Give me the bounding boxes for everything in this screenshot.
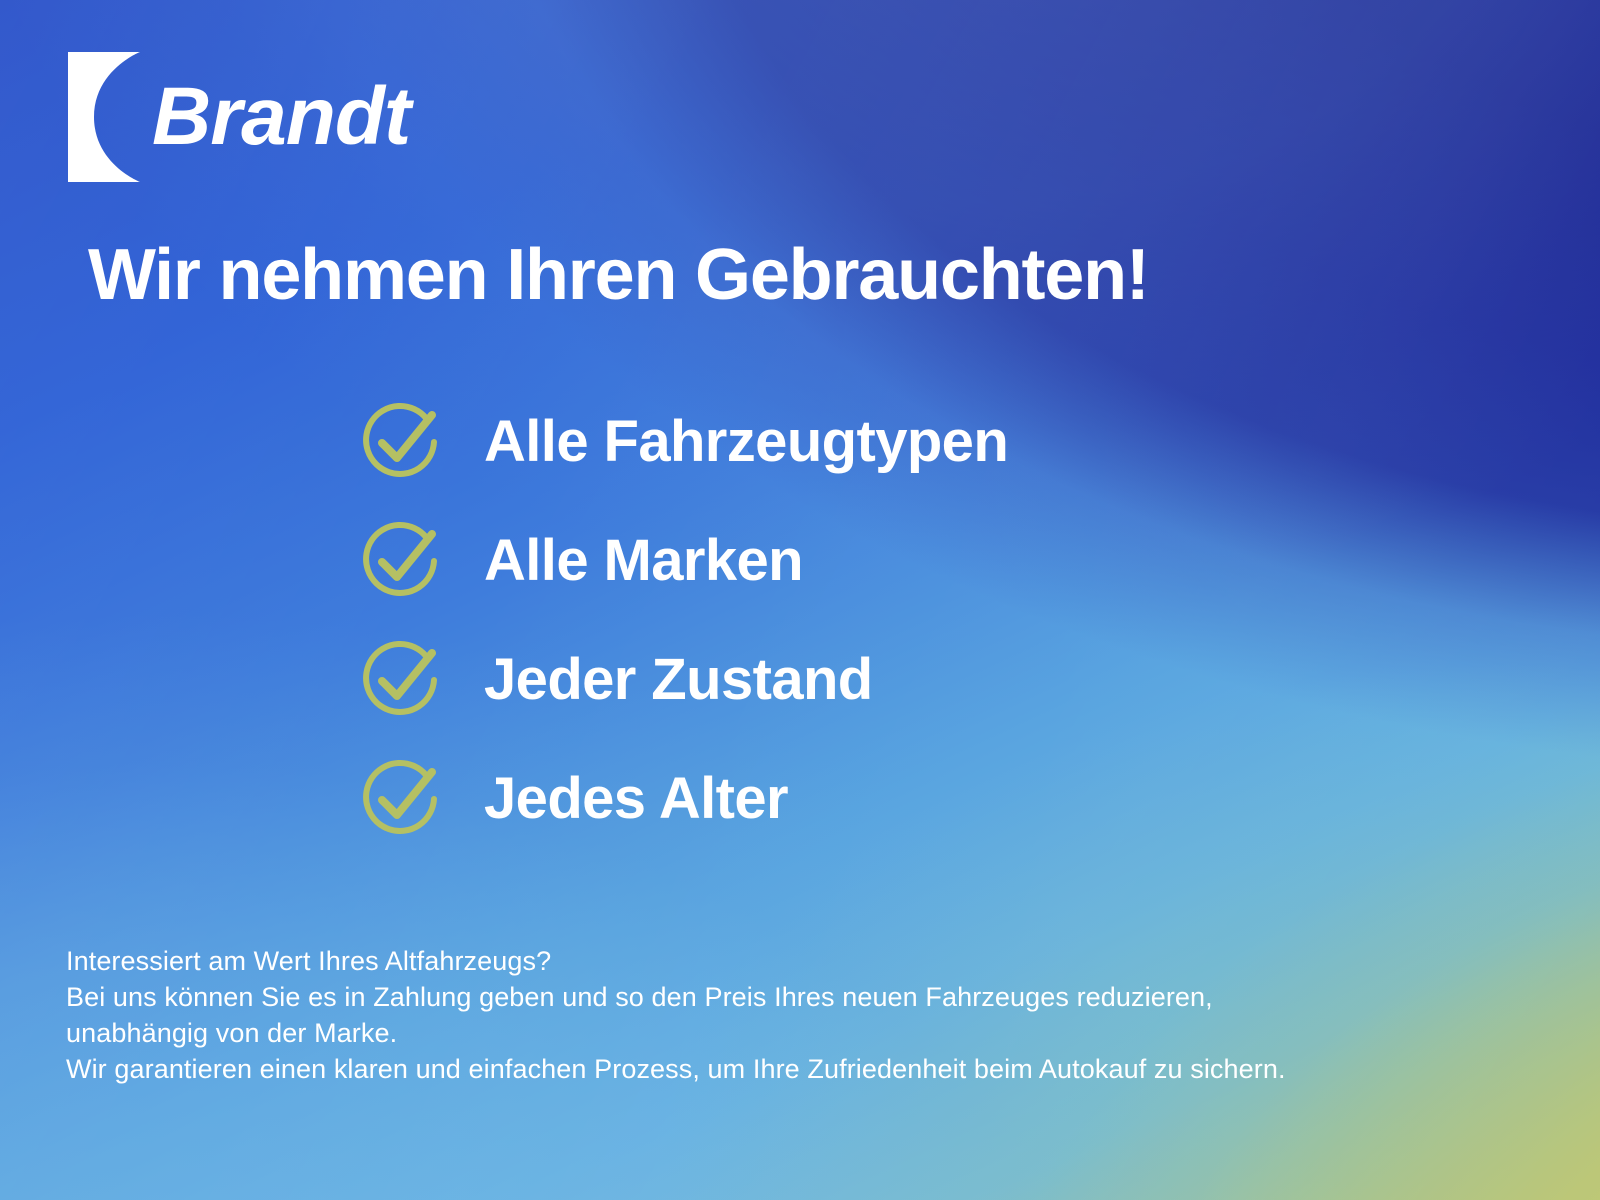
feature-item: Jeder Zustand xyxy=(356,636,1008,724)
feature-item: Alle Marken xyxy=(356,517,1008,605)
feature-item: Jedes Alter xyxy=(356,755,1008,843)
check-circle-icon xyxy=(356,517,444,605)
footer-line-3: unabhängig von der Marke. xyxy=(66,1015,1286,1051)
promo-banner: Brandt Wir nehmen Ihren Gebrauchten! All… xyxy=(0,0,1600,1200)
feature-label: Jeder Zustand xyxy=(484,651,873,709)
feature-label: Jedes Alter xyxy=(484,770,788,828)
feature-list: Alle Fahrzeugtypen Alle Marken xyxy=(356,398,1008,843)
check-circle-icon xyxy=(356,755,444,843)
footer-line-2: Bei uns können Sie es in Zahlung geben u… xyxy=(66,979,1286,1015)
footer-line-1: Interessiert am Wert Ihres Altfahrzeugs? xyxy=(66,943,1286,979)
check-circle-icon xyxy=(356,636,444,724)
feature-item: Alle Fahrzeugtypen xyxy=(356,398,1008,486)
banner-content: Brandt Wir nehmen Ihren Gebrauchten! All… xyxy=(0,0,1600,1200)
brand-logo: Brandt xyxy=(68,52,410,182)
brand-wordmark: Brandt xyxy=(152,76,410,158)
footer-line-4: Wir garantieren einen klaren und einfach… xyxy=(66,1051,1286,1087)
check-circle-icon xyxy=(356,398,444,486)
footer-paragraph: Interessiert am Wert Ihres Altfahrzeugs?… xyxy=(66,943,1286,1087)
feature-label: Alle Marken xyxy=(484,532,803,590)
brandt-bracket-mark-icon xyxy=(68,52,140,182)
headline: Wir nehmen Ihren Gebrauchten! xyxy=(88,238,1149,314)
feature-label: Alle Fahrzeugtypen xyxy=(484,413,1008,471)
